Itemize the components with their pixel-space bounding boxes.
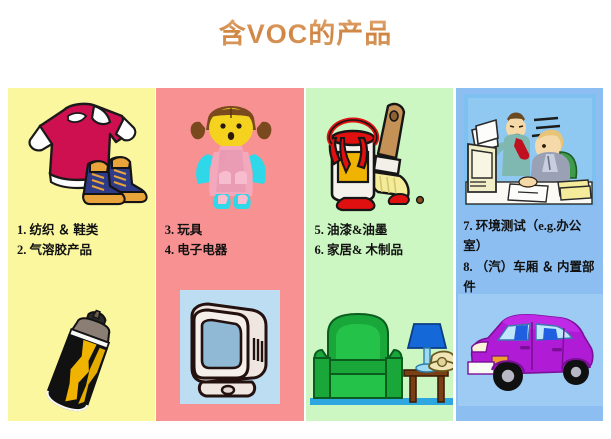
category-list-paint-furniture: 5. 油漆&油墨 6. 家居& 木制品 [315, 220, 448, 261]
category-column-textiles-aerosols[interactable]: 1. 纺织 ＆ 鞋类 2. 气溶胶产品 [8, 88, 155, 421]
list-item: 7. 环境测试（e.g.办公室） [463, 216, 597, 257]
tshirt-and-boots-image [12, 90, 154, 210]
category-list-environment-automotive: 7. 环境测试（e.g.办公室） 8. （汽）车厢 ＆ 内置部件 [463, 216, 597, 297]
list-item: 8. （汽）车厢 ＆ 内置部件 [463, 257, 597, 298]
page-title: 含VOC的产品 [0, 12, 611, 51]
list-item: 2. 气溶胶产品 [17, 240, 149, 260]
crt-television-image [166, 286, 294, 408]
category-column-environment-automotive[interactable]: 7. 环境测试（e.g.办公室） 8. （汽）车厢 ＆ 内置部件 [456, 88, 603, 421]
list-item: 4. 电子电器 [165, 240, 298, 260]
paint-can-and-brush-image [316, 94, 450, 212]
doll-toy-image [174, 88, 288, 210]
category-list-toys-electronics: 3. 玩具 4. 电子电器 [165, 220, 298, 261]
product-category-columns: 1. 纺织 ＆ 鞋类 2. 气溶胶产品 [8, 88, 603, 421]
office-workers-image [462, 90, 602, 212]
list-item: 1. 纺织 ＆ 鞋类 [17, 220, 149, 240]
list-item: 3. 玩具 [165, 220, 298, 240]
category-list-textiles-aerosols: 1. 纺织 ＆ 鞋类 2. 气溶胶产品 [17, 220, 149, 261]
armchair-lamp-telephone-image [310, 298, 454, 414]
list-item: 5. 油漆&油墨 [315, 220, 448, 240]
category-column-paint-furniture[interactable]: 5. 油漆&油墨 6. 家居& 木制品 [306, 88, 454, 421]
list-item: 6. 家居& 木制品 [315, 240, 448, 260]
category-column-toys-electronics[interactable]: 3. 玩具 4. 电子电器 [156, 88, 304, 421]
purple-car-image [458, 294, 603, 406]
aerosol-spray-can-image [20, 306, 140, 416]
